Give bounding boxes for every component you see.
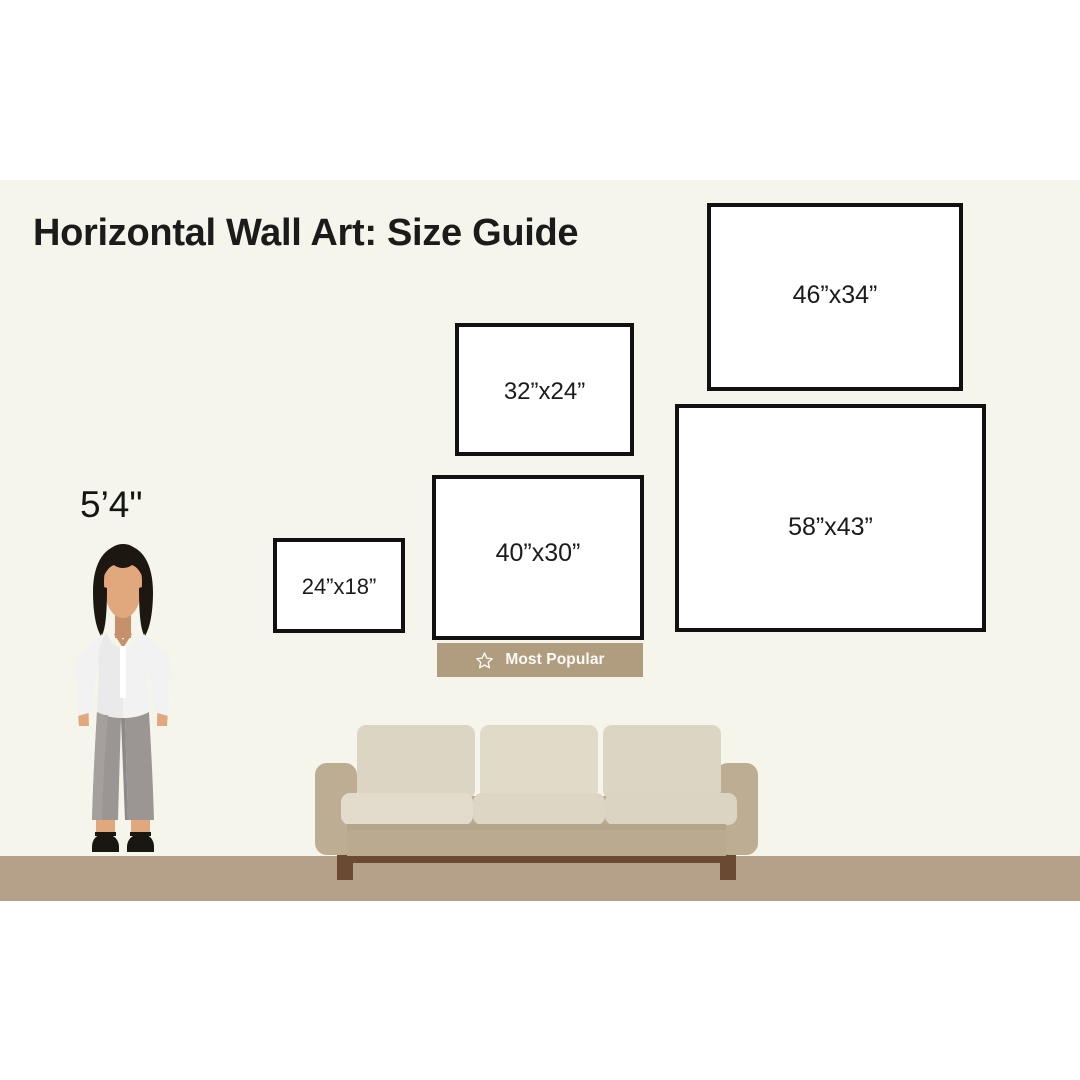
frame-58x43-label: 58”x43” <box>679 513 982 542</box>
star-outline-icon <box>475 651 494 670</box>
frame-58x43[interactable]: 58”x43” <box>675 404 986 632</box>
frame-32x24-label: 32”x24” <box>459 378 630 406</box>
frame-32x24[interactable]: 32”x24” <box>455 323 634 456</box>
sofa <box>313 708 760 893</box>
page-title: Horizontal Wall Art: Size Guide <box>33 212 578 255</box>
person-height-label: 5’4" <box>80 484 143 526</box>
frame-40x30[interactable]: 40”x30” <box>432 475 644 640</box>
frame-24x18-label: 24”x18” <box>277 574 401 600</box>
frame-46x34[interactable]: 46”x34” <box>707 203 963 391</box>
person-figure <box>62 536 184 863</box>
wall-art-size-guide: Horizontal Wall Art: Size Guide 24”x18” … <box>0 0 1080 1080</box>
frame-24x18[interactable]: 24”x18” <box>273 538 405 633</box>
frame-40x30-label: 40”x30” <box>436 539 640 568</box>
frame-46x34-label: 46”x34” <box>711 281 959 310</box>
most-popular-badge[interactable]: Most Popular <box>437 643 643 677</box>
most-popular-label: Most Popular <box>505 651 604 669</box>
